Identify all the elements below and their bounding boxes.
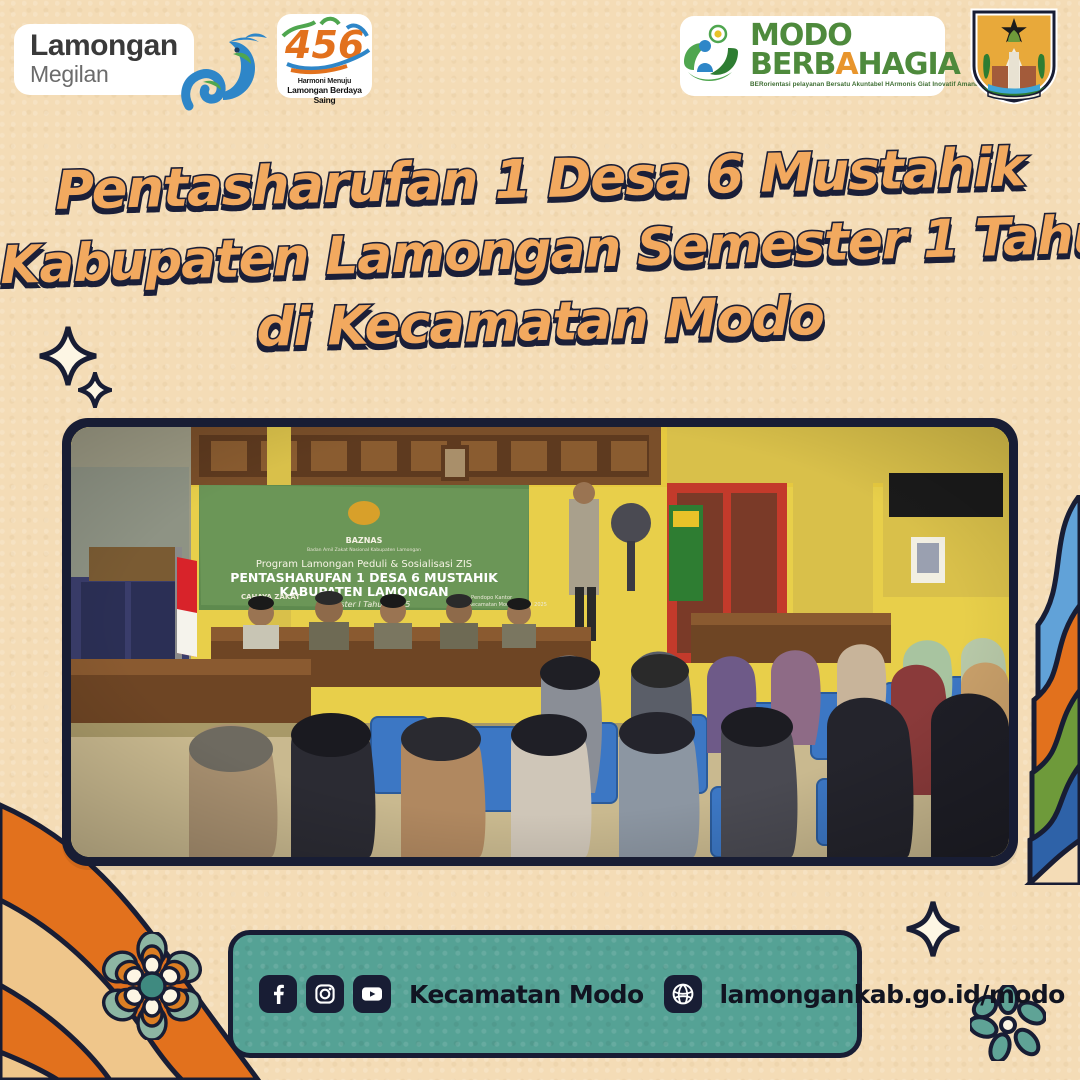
logo-lamongan-coat-of-arms [968, 8, 1060, 104]
logo-megilan-line1: Lamongan [30, 31, 178, 61]
footer-contact-bar: Kecamatan Modo lamongankab.go.id/modo [228, 930, 862, 1058]
people-leaf-icon [680, 22, 742, 86]
sparkle-star-right-icon [905, 900, 961, 958]
poster-canvas: Lamongan Megilan 456 [0, 0, 1080, 1080]
modo-line2: BERBAHAGIA [750, 51, 983, 80]
retro-flower-decoration [98, 932, 206, 1040]
website-url: lamongankab.go.id/modo [720, 980, 1065, 1009]
dolphin-wave-icon [179, 30, 269, 114]
logo-modo-berbahagia: MODO BERBAHAGIA BERorientasi pelayanan B… [680, 16, 945, 96]
sparkle-star-small-icon [78, 372, 112, 408]
title-line-2: Kabupaten Lamongan Semester 1 Tahun 2025 [0, 209, 1080, 294]
header-logo-row: Lamongan Megilan 456 [0, 0, 1080, 110]
coat-of-arms-icon [968, 8, 1060, 104]
instagram-icon[interactable] [306, 975, 344, 1013]
globe-icon[interactable] [664, 975, 702, 1013]
event-photo: BAZNAS Badan Amil Zakat Nasional Kabupat… [71, 427, 1009, 857]
event-photo-frame: BAZNAS Badan Amil Zakat Nasional Kabupat… [62, 418, 1018, 866]
page-title: Pentasharufan 1 Desa 6 Mustahik Kabupate… [0, 152, 1080, 351]
logo-lamongan-megilan: Lamongan Megilan [14, 24, 194, 95]
facebook-icon[interactable] [259, 975, 297, 1013]
logo-megilan-line2: Megilan [30, 63, 178, 86]
anniversary-caption2: Lamongan Berdaya Saing [277, 85, 372, 105]
rainbow-stripes-decoration [1008, 495, 1080, 885]
social-handle: Kecamatan Modo [409, 980, 644, 1009]
anniversary-caption1: Harmoni Menuju [277, 76, 372, 85]
youtube-icon[interactable] [353, 975, 391, 1013]
modo-tagline: BERorientasi pelayanan Bersatu Akuntabel… [750, 81, 983, 88]
logo-anniversary-456: 456 Harmoni Menuju Lamongan Berdaya Sain… [277, 14, 372, 98]
title-line-3: di Kecamatan Modo [0, 284, 1080, 363]
title-line-1: Pentasharufan 1 Desa 6 Mustahik [0, 139, 1080, 222]
